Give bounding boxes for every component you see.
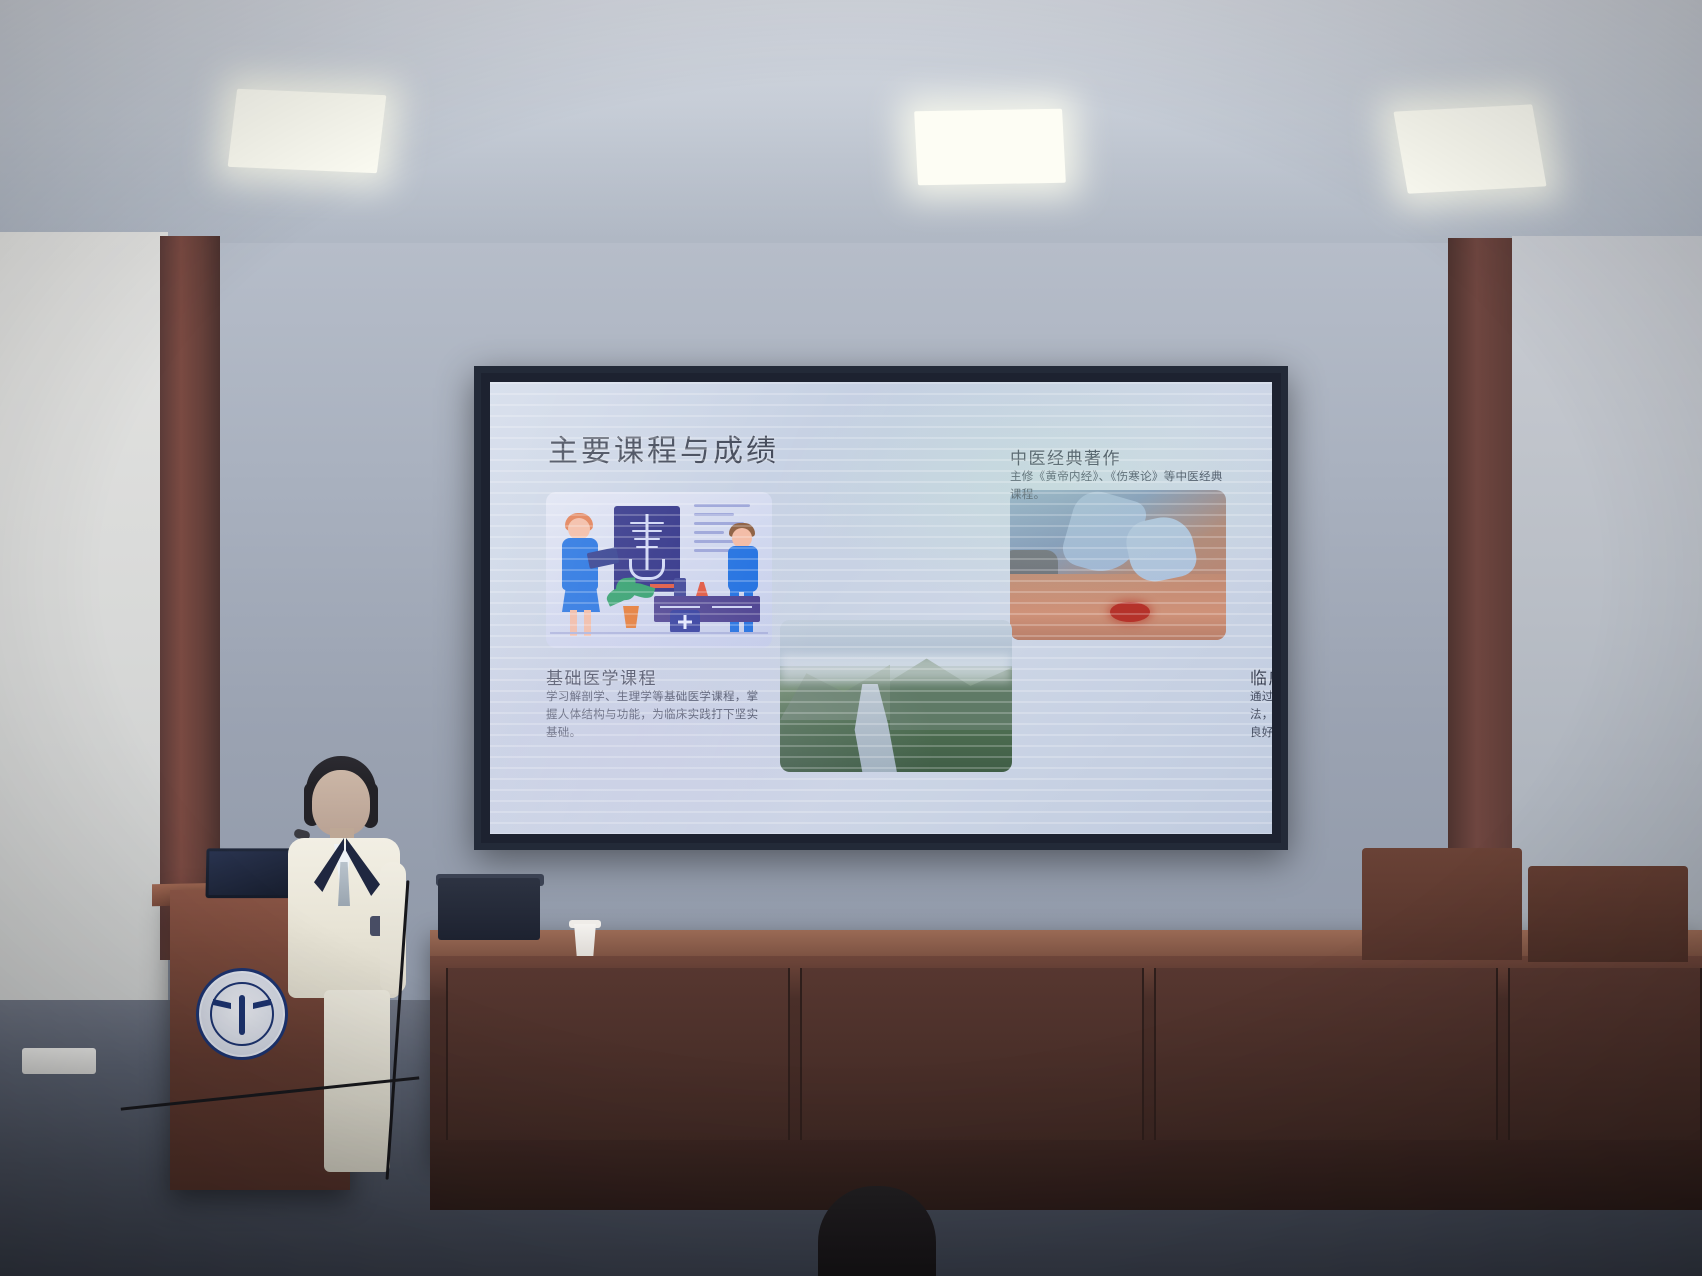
floor-equipment-box: [22, 1048, 96, 1074]
presenter-person: [284, 752, 404, 1172]
projection-screen-frame: 主要课程与成绩: [474, 366, 1288, 850]
microscope-icon: [674, 578, 686, 596]
university-emblem-icon: [196, 968, 288, 1060]
classroom-illustration: [546, 492, 772, 648]
chair[interactable]: [1528, 866, 1688, 962]
presentation-slide: 主要课程与成绩: [490, 382, 1272, 834]
wood-pillar-right: [1448, 238, 1520, 952]
river-valley-photo: [780, 620, 1012, 772]
screenshot-root: 主要课程与成绩: [0, 0, 1702, 1276]
side-wall-left: [0, 232, 168, 1098]
card-title-basic-medicine: 基础医学课程: [546, 664, 657, 689]
desk-front-panel: [800, 968, 1144, 1142]
desk-base-riser: [430, 1140, 1702, 1210]
ceiling-light-panel: [228, 89, 387, 174]
card-body-tcm-classics: 主修《黄帝内经》、《伤寒论》等中医经典课程。: [1010, 468, 1224, 504]
acupuncture-photo: [1010, 490, 1226, 640]
chair[interactable]: [1362, 848, 1522, 960]
flask-icon: [696, 582, 708, 596]
presenter-head: [312, 770, 370, 836]
card-title-tcm-classics: 中医经典著作: [1010, 444, 1121, 469]
slide-title: 主要课程与成绩: [548, 426, 779, 470]
projector-body: [438, 878, 540, 940]
ceiling-light-panel: [1393, 104, 1546, 193]
card-body-clinical-skills: 通过临床实习，学习望闻问切等诊断方法，实践针灸、推拿等治疗技术，获得良好评价。: [1250, 688, 1272, 741]
plant-icon: [620, 606, 642, 628]
ceiling-light-panel: [914, 109, 1066, 186]
desk-front-panel: [1508, 968, 1702, 1142]
desk-front-panel: [1154, 968, 1498, 1142]
side-wall-right: [1512, 236, 1702, 952]
card-body-basic-medicine: 学习解剖学、生理学等基础医学课程，掌握人体结构与功能，为临床实践打下坚实基础。: [546, 688, 762, 741]
projection-screen[interactable]: 主要课程与成绩: [490, 382, 1272, 834]
desk-front-panel: [446, 968, 790, 1142]
medical-kit-icon: [670, 610, 700, 634]
card-title-clinical-skills: 临床实践技能: [1250, 664, 1272, 689]
